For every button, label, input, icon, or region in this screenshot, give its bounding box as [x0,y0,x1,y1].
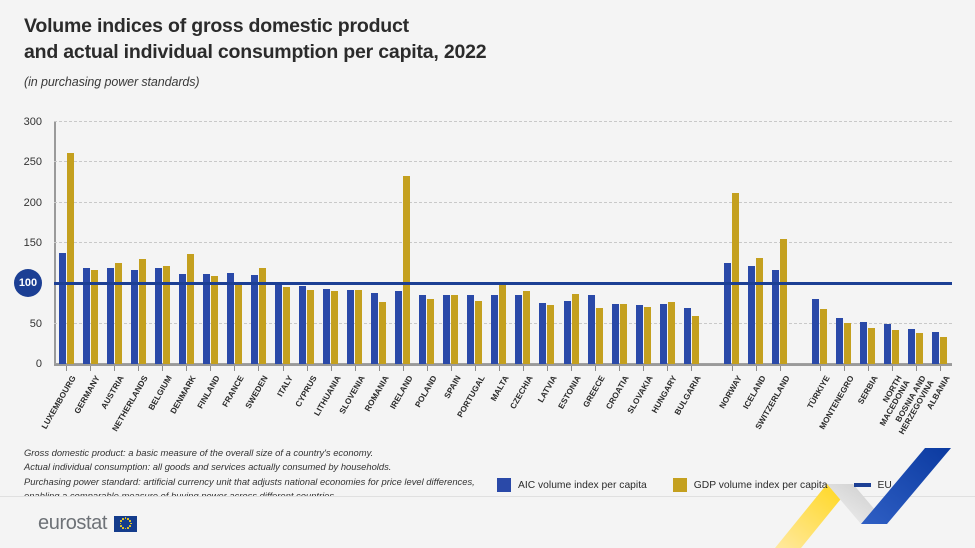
y-tick-label-250: 250 [0,156,42,168]
bar-gdp[interactable] [820,309,827,364]
eu-flag-star [122,518,124,520]
x-tick [379,366,380,371]
bar-group[interactable] [415,122,439,364]
legend-item[interactable]: GDP volume index per capita [673,478,828,492]
bar-group[interactable] [511,122,535,364]
x-tick [307,366,308,371]
eu-reference-line [54,282,952,285]
bar-aic[interactable] [684,308,691,364]
x-tick [940,366,941,371]
bar-group[interactable] [559,122,583,364]
bar-gdp[interactable] [499,282,506,364]
bar-aic[interactable] [932,332,939,364]
bar-gdp[interactable] [427,299,434,364]
bar-gdp[interactable] [844,323,851,364]
x-tick [90,366,91,371]
bar-group[interactable] [904,122,928,364]
y-axis-labels: 050100150200250300 [0,122,48,364]
y-tick-label-300: 300 [0,116,42,128]
group-separator [791,122,807,364]
x-tick [667,366,668,371]
x-tick [523,366,524,371]
bar-group[interactable] [198,122,222,364]
x-tick [844,366,845,371]
bar-aic[interactable] [395,291,402,364]
x-tick [258,366,259,371]
bar-aic[interactable] [724,263,731,364]
bar-group[interactable] [679,122,703,364]
bar-group[interactable] [102,122,126,364]
chevron-graphic [775,436,975,548]
bar-gdp[interactable] [67,153,74,364]
bar-gdp[interactable] [283,287,290,364]
eurostat-wordmark: eurostat [38,512,107,535]
x-tick [691,366,692,371]
x-tick [210,366,211,371]
bar-group[interactable] [487,122,511,364]
bar-group[interactable] [367,122,391,364]
bar-gdp[interactable] [331,291,338,364]
x-tick [451,366,452,371]
bar-gdp[interactable] [187,254,194,364]
bar-group[interactable] [126,122,150,364]
eu-flag-star [129,525,131,527]
bar-aic[interactable] [908,329,915,364]
bar-aic[interactable] [443,295,450,364]
bar-group[interactable] [78,122,102,364]
bar-aic[interactable] [588,295,595,364]
x-tick [66,366,67,371]
bar-gdp[interactable] [139,259,146,364]
group-separator [703,122,719,364]
bar-aic[interactable] [860,322,867,364]
x-tick [756,366,757,371]
x-tick [595,366,596,371]
x-tick [820,366,821,371]
chart-subtitle: (in purchasing power standards) [24,75,784,89]
eu-flag-star [122,527,124,529]
bar-group[interactable] [270,122,294,364]
legend-label: GDP volume index per capita [694,480,828,491]
bar-group[interactable] [856,122,880,364]
legend-item[interactable]: AIC volume index per capita [497,478,647,492]
bar-group[interactable] [150,122,174,364]
bar-gdp[interactable] [940,337,947,364]
bar-group[interactable] [719,122,743,364]
bar-group[interactable] [391,122,415,364]
decorative-chevrons [775,436,975,548]
bar-aic[interactable] [836,318,843,364]
x-tick [619,366,620,371]
bar-aic[interactable] [323,289,330,364]
bar-gdp[interactable] [572,294,579,364]
chart-legend: AIC volume index per capitaGDP volume in… [497,478,892,492]
bar-aic[interactable] [419,295,426,364]
bar-gdp[interactable] [379,302,386,364]
x-axis-labels: LUXEMBOURGGERMANYAUSTRIANETHERLANDSBELGI… [54,366,952,446]
bar-gdp[interactable] [732,193,739,364]
y-tick-label-0: 0 [0,358,42,370]
bar-group[interactable] [767,122,791,364]
x-tick [780,366,781,371]
x-tick [571,366,572,371]
bar-gdp[interactable] [668,302,675,364]
bar-aic[interactable] [812,299,819,364]
bar-group[interactable] [928,122,952,364]
bar-group[interactable] [831,122,855,364]
bar-group[interactable] [655,122,679,364]
bar-gdp[interactable] [916,333,923,364]
bar-group[interactable] [246,122,270,364]
x-tick [331,366,332,371]
legend-swatch-icon [854,483,871,487]
y-tick-label-150: 150 [0,237,42,249]
bar-gdp[interactable] [596,308,603,364]
bar-aic[interactable] [539,303,546,364]
x-tick [138,366,139,371]
bar-group[interactable] [463,122,487,364]
bar-gdp[interactable] [211,276,218,364]
bar-gdp[interactable] [355,290,362,364]
bar-aic[interactable] [884,324,891,364]
bar-gdp[interactable] [403,176,410,364]
bar-gdp[interactable] [620,304,627,364]
eu-flag-icon [114,516,137,532]
y-tick-label-200: 200 [0,197,42,209]
bar-gdp[interactable] [756,258,763,364]
eu-flag-star [120,520,122,522]
bar-group[interactable] [607,122,631,364]
bar-aic[interactable] [203,274,210,364]
x-tick [892,366,893,371]
bar-group[interactable] [743,122,767,364]
bar-aic[interactable] [748,266,755,364]
bar-group[interactable] [174,122,198,364]
chart-plot-area [54,122,952,364]
footnotes: Gross domestic product: a basic measure … [24,446,494,503]
page-title: Volume indices of gross domestic product… [24,14,784,65]
bar-group[interactable] [54,122,78,364]
x-tick [643,366,644,371]
legend-label: AIC volume index per capita [518,480,647,491]
bar-aic[interactable] [660,304,667,364]
chart-header: Volume indices of gross domestic product… [24,14,784,89]
bar-group[interactable] [319,122,343,364]
bar-gdp[interactable] [523,291,530,364]
bar-aic[interactable] [59,253,66,364]
bar-gdp[interactable] [692,316,699,364]
bar-gdp[interactable] [451,295,458,364]
x-tick [114,366,115,371]
footer-bar: eurostat [0,496,975,548]
bar-group[interactable] [880,122,904,364]
bar-aic[interactable] [515,295,522,364]
x-tick [475,366,476,371]
bar-group[interactable] [807,122,831,364]
bar-group[interactable] [535,122,559,364]
legend-swatch-icon [673,478,687,492]
bar-gdp[interactable] [547,305,554,364]
bar-aic[interactable] [299,286,306,364]
bar-group[interactable] [222,122,246,364]
eu-flag-star [125,528,127,530]
x-tick [234,366,235,371]
bar-aic[interactable] [491,295,498,364]
x-tick [427,366,428,371]
y-tick-label-50: 50 [0,318,42,330]
eu-flag-star [130,523,132,525]
legend-swatch-icon [497,478,511,492]
x-tick [355,366,356,371]
bar-aic[interactable] [275,284,282,364]
bar-gdp[interactable] [892,330,899,364]
eu-flag-star [127,527,129,529]
eurostat-logo: eurostat [38,512,137,535]
bar-group[interactable] [294,122,318,364]
bar-group[interactable] [583,122,607,364]
bar-aic[interactable] [347,290,354,364]
legend-label: EU [878,480,892,491]
eu-flag-star [120,525,122,527]
eu-flag-star [129,520,131,522]
x-tick [162,366,163,371]
bar-series-container [54,122,952,364]
bar-gdp[interactable] [115,263,122,364]
x-tick [283,366,284,371]
bar-gdp[interactable] [868,328,875,364]
bar-gdp[interactable] [307,290,314,364]
x-tick [916,366,917,371]
bar-aic[interactable] [227,273,234,364]
x-tick [547,366,548,371]
bar-aic[interactable] [636,305,643,364]
legend-item[interactable]: EU [854,480,892,491]
bar-group[interactable] [631,122,655,364]
bar-gdp[interactable] [475,301,482,364]
bar-aic[interactable] [371,293,378,364]
bar-group[interactable] [343,122,367,364]
eu-flag-star [120,523,122,525]
bar-gdp[interactable] [780,239,787,364]
bar-aic[interactable] [564,301,571,364]
bar-gdp[interactable] [235,282,242,364]
x-tick [732,366,733,371]
x-tick [499,366,500,371]
x-tick [186,366,187,371]
bar-aic[interactable] [179,274,186,364]
bar-aic[interactable] [467,295,474,364]
x-tick [403,366,404,371]
bar-aic[interactable] [251,275,258,364]
bar-group[interactable] [439,122,463,364]
x-tick [868,366,869,371]
bar-gdp[interactable] [644,307,651,364]
eu-flag-star [125,517,127,519]
bar-aic[interactable] [612,304,619,364]
